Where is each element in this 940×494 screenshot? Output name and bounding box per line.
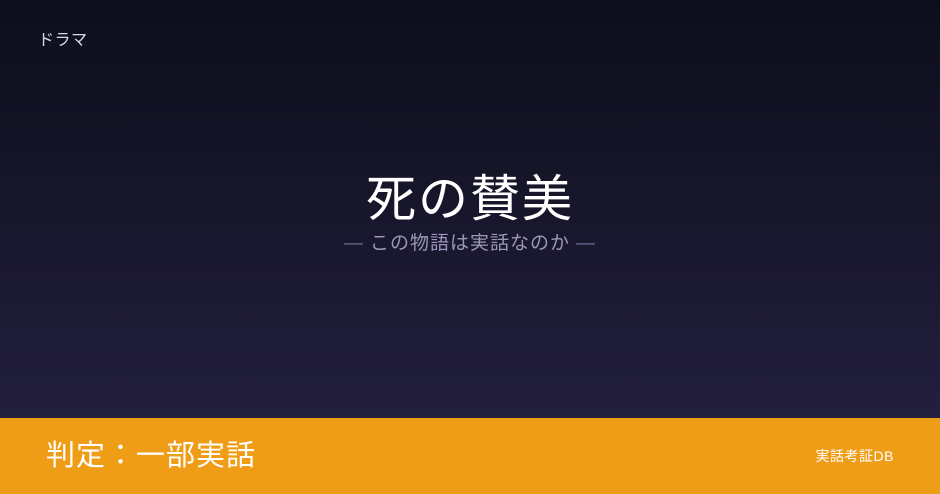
genre-tag: ドラマ	[38, 30, 88, 52]
hero-backdrop: ドラマ 死の賛美 —この物語は実話なのか—	[0, 0, 940, 418]
subtitle: —この物語は実話なのか—	[0, 231, 940, 257]
verdict-bar: 判定：一部実話 実話考証DB	[0, 418, 940, 494]
verdict-badge: 判定：一部実話	[46, 437, 256, 475]
source-label: 実話考証DB	[816, 446, 894, 466]
title-block: 死の賛美 —この物語は実話なのか—	[0, 168, 940, 257]
subtitle-rule-left: —	[338, 233, 370, 254]
fact-check-title-card: ドラマ 死の賛美 —この物語は実話なのか— 判定：一部実話 実話考証DB	[0, 0, 940, 494]
subtitle-text: この物語は実話なのか	[370, 233, 570, 254]
page-title: 死の賛美	[0, 168, 940, 230]
subtitle-rule-right: —	[570, 233, 602, 254]
